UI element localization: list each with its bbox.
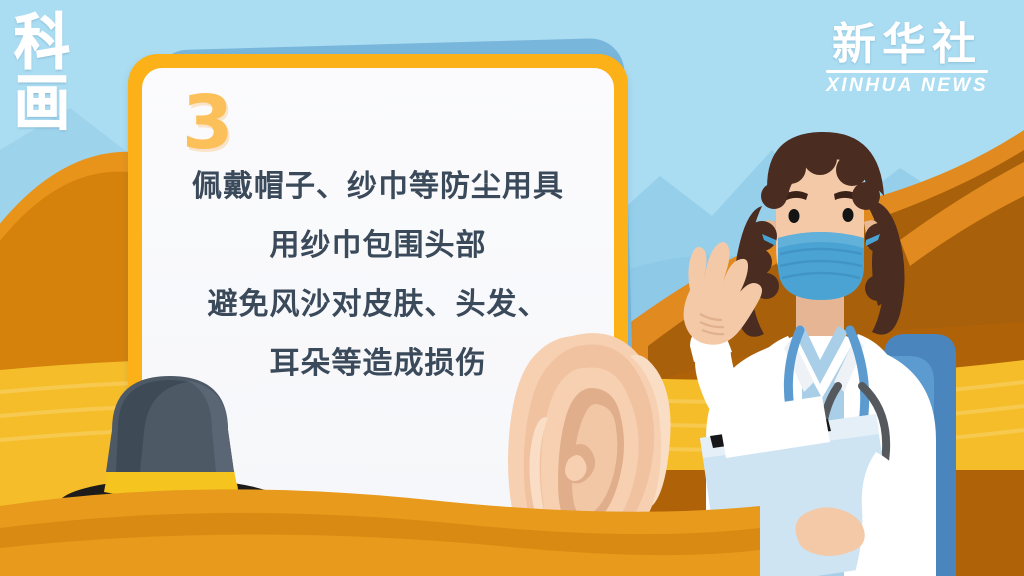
- ke-hua-logo: 科画: [14, 18, 118, 94]
- xinhua-news-logo: 新华社 XINHUA NEWS: [826, 22, 988, 95]
- ke-hua-logo-text: 科画: [14, 14, 118, 135]
- xinhua-logo-divider: [826, 70, 988, 73]
- illustration-canvas: 3 佩戴帽子、纱巾等防尘用具 用纱巾包围头部 避免风沙对皮肤、头发、 耳朵等造成…: [0, 0, 1024, 576]
- xinhua-logo-english: XINHUA NEWS: [826, 76, 988, 95]
- xinhua-logo-chinese: 新华社: [826, 22, 988, 68]
